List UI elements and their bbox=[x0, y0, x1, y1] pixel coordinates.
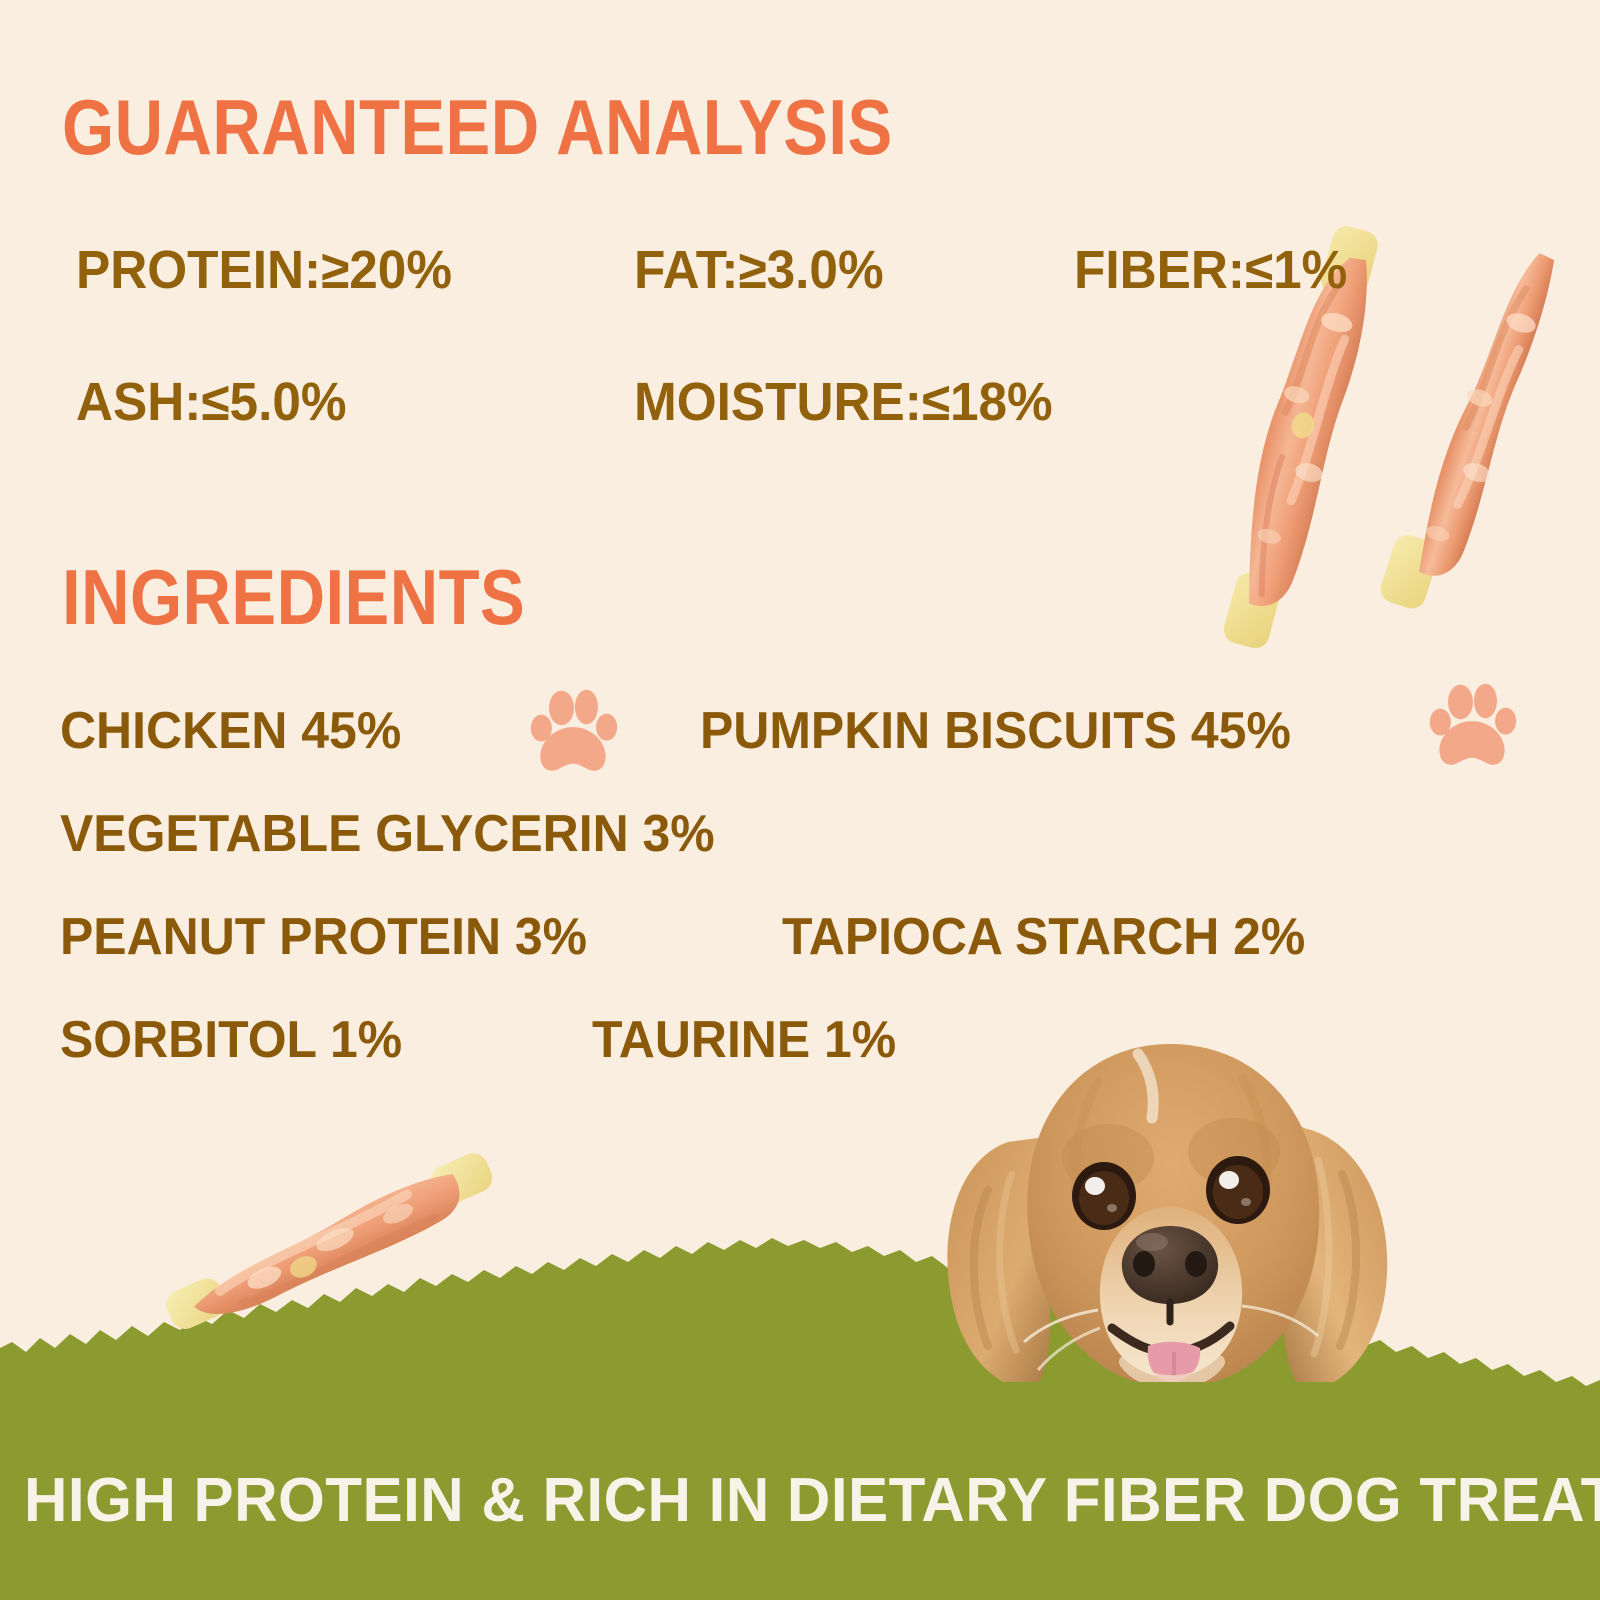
paw-print-icon bbox=[1424, 677, 1520, 773]
page-title-guaranteed-analysis: GUARANTEED ANALYSIS bbox=[62, 88, 893, 166]
analysis-value-ash: ASH:≤5.0% bbox=[76, 375, 346, 429]
ingredient-sorbitol: SORBITOL 1% bbox=[60, 1014, 402, 1066]
ingredient-row: VEGETABLE GLYCERIN 3% bbox=[0, 808, 1600, 884]
ingredient-chicken: CHICKEN 45% bbox=[60, 705, 401, 757]
analysis-row: PROTEIN:≥20% FAT:≥3.0% FIBER:≤1% bbox=[0, 243, 1600, 313]
paw-print-icon bbox=[525, 683, 621, 779]
analysis-value-fat: FAT:≥3.0% bbox=[634, 243, 884, 297]
analysis-value-moisture: MOISTURE:≤18% bbox=[634, 375, 1053, 429]
analysis-row: ASH:≤5.0% MOISTURE:≤18% bbox=[0, 375, 1600, 445]
ingredient-row: CHICKEN 45% PUMPKIN BISCUITS 45% bbox=[0, 705, 1600, 781]
analysis-value-fiber: FIBER:≤1% bbox=[1074, 243, 1347, 297]
ingredient-peanut-protein: PEANUT PROTEIN 3% bbox=[60, 911, 587, 963]
ingredient-tapioca-starch: TAPIOCA STARCH 2% bbox=[782, 911, 1305, 963]
ingredient-row: PEANUT PROTEIN 3% TAPIOCA STARCH 2% bbox=[0, 911, 1600, 987]
treat-stick-image bbox=[140, 1138, 520, 1348]
ingredient-taurine: TAURINE 1% bbox=[592, 1014, 896, 1066]
ingredient-row: SORBITOL 1% TAURINE 1% bbox=[0, 1014, 1600, 1090]
product-infographic: GUARANTEED ANALYSIS INGREDIENTS PROTEIN:… bbox=[0, 0, 1600, 1600]
page-title-ingredients: INGREDIENTS bbox=[62, 558, 525, 636]
banner-tagline: HIGH PROTEIN & RICH IN DIETARY FIBER DOG… bbox=[24, 1470, 1576, 1532]
ingredient-vegetable-glycerin: VEGETABLE GLYCERIN 3% bbox=[60, 808, 715, 860]
analysis-value-protein: PROTEIN:≥20% bbox=[76, 243, 452, 297]
ingredient-pumpkin-biscuits: PUMPKIN BISCUITS 45% bbox=[700, 705, 1291, 757]
